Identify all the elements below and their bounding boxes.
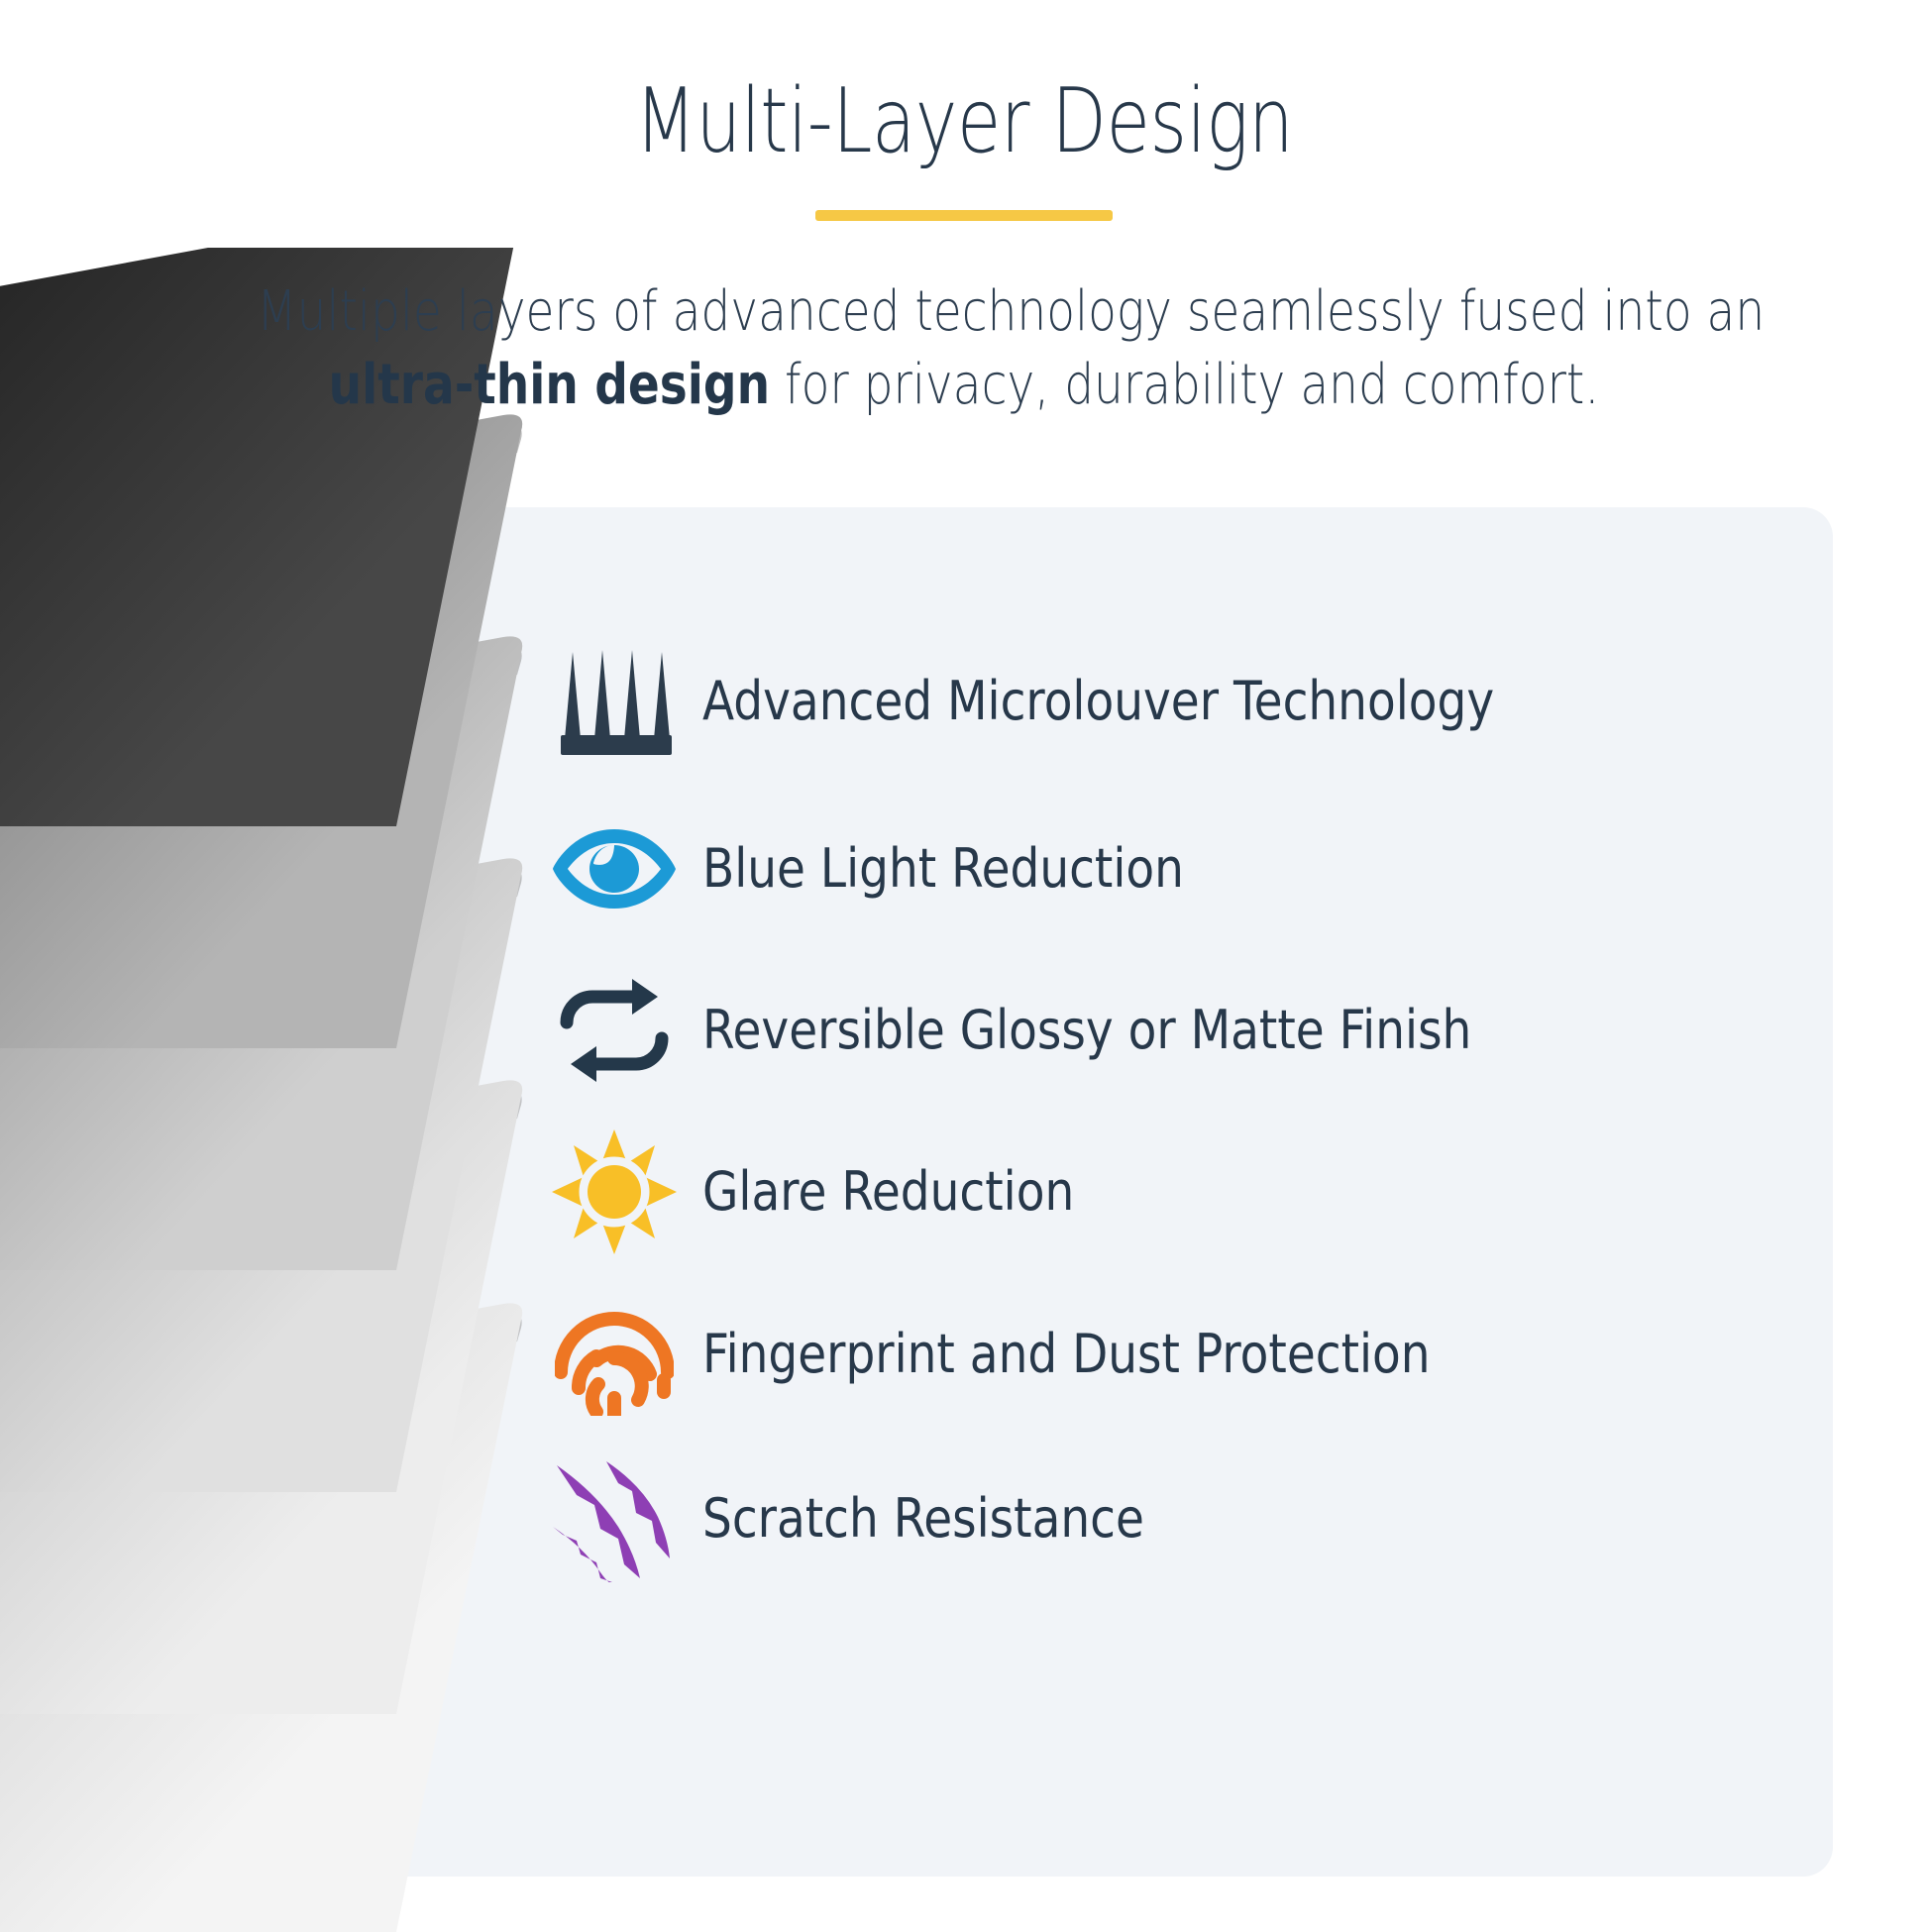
reversible-arrows-icon: [540, 956, 689, 1105]
feature-label: Advanced Microlouver Technology: [702, 672, 1494, 730]
sun-icon: [540, 1118, 689, 1266]
eye-icon: [540, 795, 689, 943]
feature-label: Fingerprint and Dust Protection: [702, 1325, 1431, 1383]
feature-row: Fingerprint and Dust Protection: [540, 1272, 1858, 1437]
fingerprint-icon: [540, 1280, 689, 1429]
feature-label: Glare Reduction: [702, 1162, 1074, 1221]
feature-row: Glare Reduction: [540, 1112, 1858, 1272]
feature-row: Scratch Resistance: [540, 1437, 1858, 1601]
feature-label: Scratch Resistance: [702, 1489, 1144, 1548]
page-title: Multi-Layer Design: [193, 77, 1736, 166]
title-underline: [815, 210, 1113, 221]
feature-label: Reversible Glossy or Matte Finish: [702, 1001, 1471, 1059]
scratch-claw-icon: [540, 1445, 689, 1593]
subtitle-line-2-rest: for privacy, durability and comfort.: [770, 353, 1599, 417]
feature-row: Blue Light Reduction: [540, 789, 1858, 949]
feature-label: Blue Light Reduction: [702, 839, 1184, 898]
feature-list: Advanced Microlouver Technology Blue Lig…: [540, 614, 1858, 1601]
feature-row: Advanced Microlouver Technology: [540, 614, 1858, 789]
feature-row: Reversible Glossy or Matte Finish: [540, 949, 1858, 1112]
layer-stack-illustration: [0, 248, 634, 1932]
microlouver-icon: [540, 627, 689, 776]
